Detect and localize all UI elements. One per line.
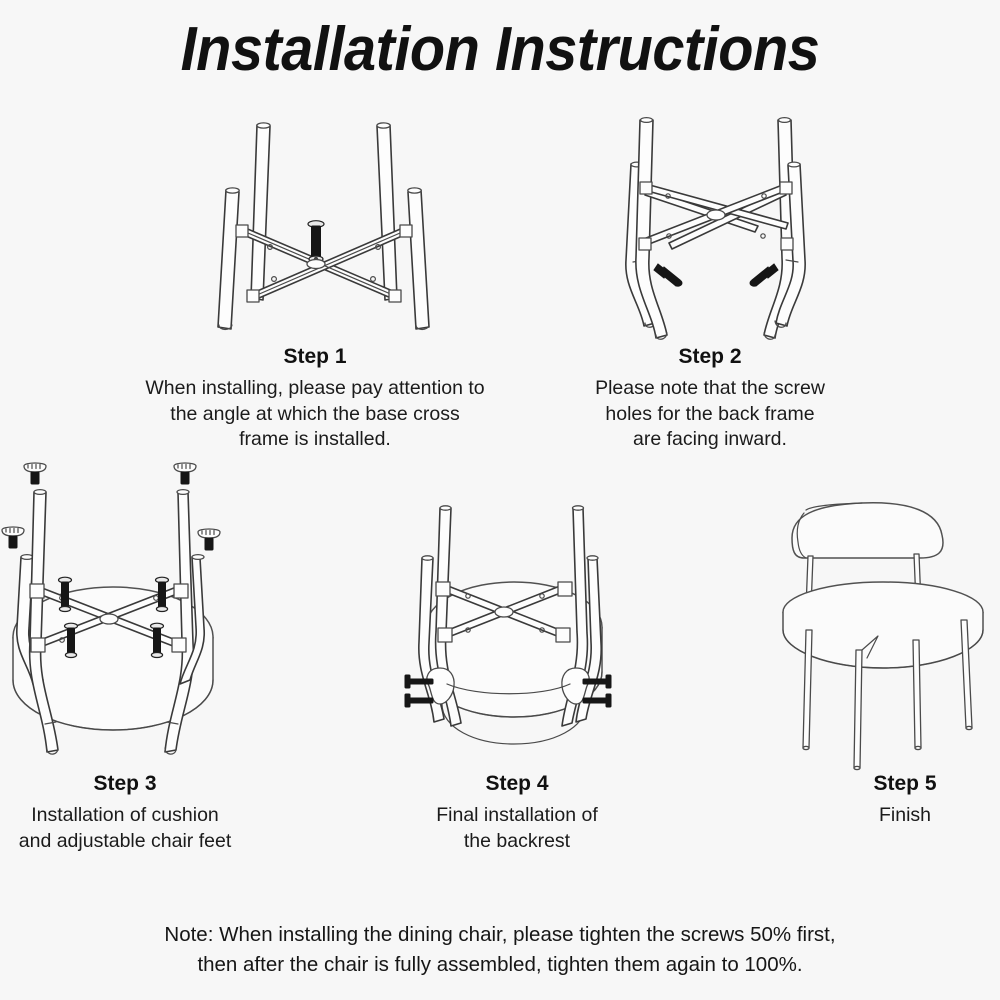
step-4-caption: Step 4 Final installation of the backres… (397, 772, 637, 854)
adjustable-foot-3 (2, 527, 24, 548)
leg-back-left (218, 188, 239, 330)
leg-back-right (913, 640, 921, 748)
step-1-label: Step 1 (105, 345, 525, 369)
installation-instructions-page: Installation Instructions (0, 0, 1000, 1000)
step-4-label: Step 4 (397, 772, 637, 796)
x-cross-frame (639, 178, 793, 250)
round-seat (783, 582, 983, 668)
leg-front-left (251, 123, 270, 300)
step-4-description: Final installation of the backrest (397, 803, 637, 854)
step-1-description: When installing, please pay attention to… (105, 376, 525, 453)
adjustable-foot-2 (174, 463, 196, 484)
step-3-label: Step 3 (5, 772, 245, 796)
leg-back-right (408, 188, 429, 330)
step-3-description: Installation of cushion and adjustable c… (5, 803, 245, 854)
screw-right-inward (750, 264, 778, 286)
adjustable-foot-4 (198, 529, 220, 550)
leg-front-right (377, 123, 397, 300)
step-5-description: Finish (805, 803, 1000, 829)
adjustable-foot-1 (24, 463, 46, 484)
leg-front-center (854, 650, 862, 768)
step-2-label: Step 2 (565, 345, 855, 369)
note-line-1: Note: When installing the dining chair, … (18, 920, 982, 950)
step-2-figure (608, 112, 823, 344)
note-line-2: then after the chair is fully assembled,… (18, 950, 982, 980)
curved-backrest (792, 503, 943, 558)
step-3-caption: Step 3 Installation of cushion and adjus… (5, 772, 245, 854)
step-4-figure (402, 482, 642, 767)
step-1-figure (195, 112, 440, 342)
installation-note: Note: When installing the dining chair, … (18, 920, 982, 979)
screw-left-inward (654, 264, 682, 286)
step-3-figure (0, 452, 250, 772)
step-2-caption: Step 2 Please note that the screw holes … (565, 345, 855, 453)
page-title: Installation Instructions (35, 14, 965, 85)
step-5-label: Step 5 (805, 772, 1000, 796)
step-1-caption: Step 1 When installing, please pay atten… (105, 345, 525, 453)
step-2-description: Please note that the screw holes for the… (565, 376, 855, 453)
cross-frame-hub (307, 260, 325, 269)
step-5-caption: Step 5 Finish (805, 772, 1000, 829)
step-5-figure (770, 490, 995, 770)
